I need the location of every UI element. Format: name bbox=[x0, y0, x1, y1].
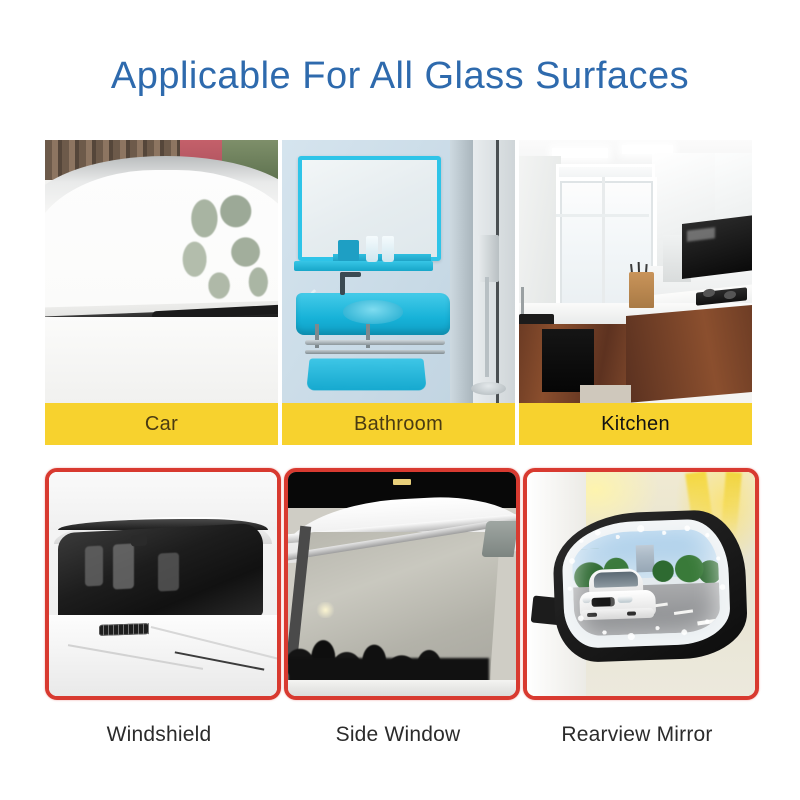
towel-rail bbox=[305, 340, 445, 345]
lower-glass-shelf bbox=[306, 359, 426, 390]
caption-windshield: Windshield bbox=[45, 723, 273, 747]
window-rail bbox=[556, 214, 649, 217]
side-window-frame bbox=[284, 468, 520, 700]
caption-bathroom: Bathroom bbox=[282, 403, 515, 445]
sun-glare bbox=[315, 602, 336, 618]
card-side-window[interactable]: Side Window bbox=[284, 468, 512, 758]
kitchen-photo bbox=[519, 140, 752, 403]
towel-rail-lower bbox=[305, 350, 445, 354]
interior-seat-three bbox=[158, 552, 179, 591]
base-cabinets-right bbox=[626, 305, 752, 403]
car-hood-white bbox=[49, 615, 277, 696]
window-mullion bbox=[602, 177, 605, 314]
page-title: Applicable For All Glass Surfaces bbox=[0, 55, 800, 98]
infographic-page: Applicable For All Glass Surfaces bbox=[0, 0, 800, 800]
rearview-mirror-photo bbox=[527, 472, 755, 696]
interior-seat-two bbox=[113, 543, 134, 589]
card-windshield[interactable]: Windshield bbox=[45, 468, 273, 758]
hood-vent-louvers bbox=[99, 623, 149, 636]
basin-bowl bbox=[343, 300, 404, 324]
card-rearview-mirror[interactable]: Rearview Mirror bbox=[523, 468, 751, 758]
top-row: Car bbox=[45, 140, 753, 445]
water-bead-ring bbox=[561, 518, 732, 649]
interior-seat-one bbox=[85, 545, 103, 586]
caption-car: Car bbox=[45, 403, 278, 445]
faucet-spout bbox=[340, 272, 361, 277]
bottle-one bbox=[366, 236, 378, 262]
bathroom-photo bbox=[282, 140, 515, 403]
kitchen-floor bbox=[580, 385, 631, 403]
bottom-row: Windshield Sid bbox=[45, 468, 753, 758]
kitchen-wall-left bbox=[519, 156, 561, 324]
car-photo bbox=[45, 140, 278, 403]
side-window-photo bbox=[288, 472, 516, 696]
towel-stand-top bbox=[478, 235, 499, 282]
tree-reflection bbox=[175, 192, 273, 312]
glass-shelf bbox=[294, 261, 434, 271]
towel-stand-base bbox=[471, 382, 506, 395]
windshield-frame bbox=[45, 468, 281, 700]
kitchen-tap bbox=[521, 287, 524, 316]
knife-block bbox=[629, 272, 655, 309]
rearview-mirror-frame bbox=[523, 468, 759, 700]
card-car[interactable]: Car bbox=[45, 140, 278, 445]
caption-kitchen: Kitchen bbox=[519, 403, 752, 445]
card-bathroom[interactable]: Bathroom bbox=[282, 140, 515, 445]
range-hood bbox=[682, 216, 752, 280]
bottle-two bbox=[382, 236, 394, 262]
car-hood bbox=[45, 317, 278, 403]
interior-mirror bbox=[131, 534, 147, 546]
door-sill bbox=[288, 680, 516, 696]
rear-window bbox=[482, 521, 519, 557]
shelf-box bbox=[338, 240, 359, 261]
mirror-glass bbox=[561, 518, 732, 649]
dishwasher-panel bbox=[542, 329, 593, 392]
card-kitchen[interactable]: Kitchen bbox=[519, 140, 752, 445]
bathroom-wall-side bbox=[450, 140, 473, 403]
windshield-photo bbox=[49, 472, 277, 696]
caption-rearview-mirror: Rearview Mirror bbox=[523, 723, 751, 747]
roof-marker bbox=[393, 479, 411, 486]
caption-side-window: Side Window bbox=[284, 723, 512, 747]
towel-stand-pole bbox=[485, 277, 489, 377]
